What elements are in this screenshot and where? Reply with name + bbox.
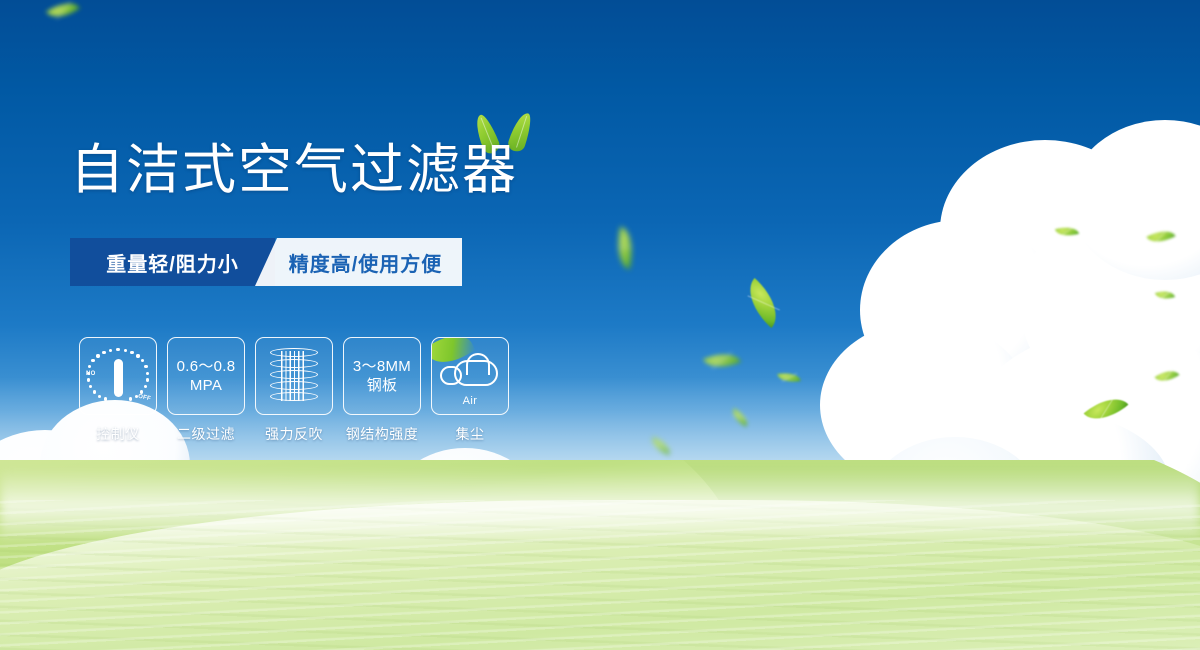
subtitle-left-text: 重量轻/阻力小 [106,248,239,277]
gauge-needle-icon [114,359,123,397]
feature-icon-box[interactable]: 0.6～0.8 MPA [167,337,245,415]
steel-plate-text: 钢板 [353,376,411,395]
horizon-glow [0,468,1200,538]
feature-icon-box[interactable] [255,337,333,415]
air-label: Air [440,395,500,407]
cloud-big-icon [454,360,498,386]
feature-item-dust[interactable]: Air 集尘 [431,337,514,444]
gauge-icon: NO OFF [87,346,149,406]
subtitle-right-text: 精度高/使用方便 [289,248,443,277]
subtitle-bar: 重量轻/阻力小 精度高/使用方便 [70,238,462,286]
feature-item-pressure[interactable]: 0.6～0.8 MPA 二级过滤 [167,337,250,444]
feature-label: 控制仪 [79,424,157,444]
pressure-unit-text: MPA [177,376,236,395]
hero-banner: 自洁式空气过滤器 重量轻/阻力小 精度高/使用方便 NO OFF [0,0,1200,650]
page-title: 自洁式空气过滤器 [70,143,518,197]
steel-thickness-text: 3～8MM [353,357,411,376]
subtitle-left-badge: 重量轻/阻力小 [70,238,275,286]
steel-icon: 3～8MM 钢板 [353,357,411,395]
feature-item-blowback[interactable]: 强力反吹 [255,337,338,444]
feature-icon-box[interactable]: Air [431,337,509,415]
pressure-icon: 0.6～0.8 MPA [177,357,236,395]
feature-label: 二级过滤 [167,424,245,444]
feature-icon-box[interactable]: 3～8MM 钢板 [343,337,421,415]
pressure-range-text: 0.6～0.8 [177,357,236,376]
feature-label: 钢结构强度 [343,424,421,444]
feature-label: 强力反吹 [255,424,333,444]
feature-item-controller[interactable]: NO OFF [79,337,162,444]
coil-icon [270,348,318,404]
gauge-off-label: OFF [138,394,152,403]
feature-label: 集尘 [431,424,509,444]
feature-list: NO OFF [79,337,514,444]
feature-item-steel[interactable]: 3～8MM 钢板 钢结构强度 [343,337,426,444]
subtitle-right-badge: 精度高/使用方便 [255,238,462,286]
feature-icon-box[interactable]: NO OFF [79,337,157,415]
air-cloud-icon: Air [440,348,500,404]
